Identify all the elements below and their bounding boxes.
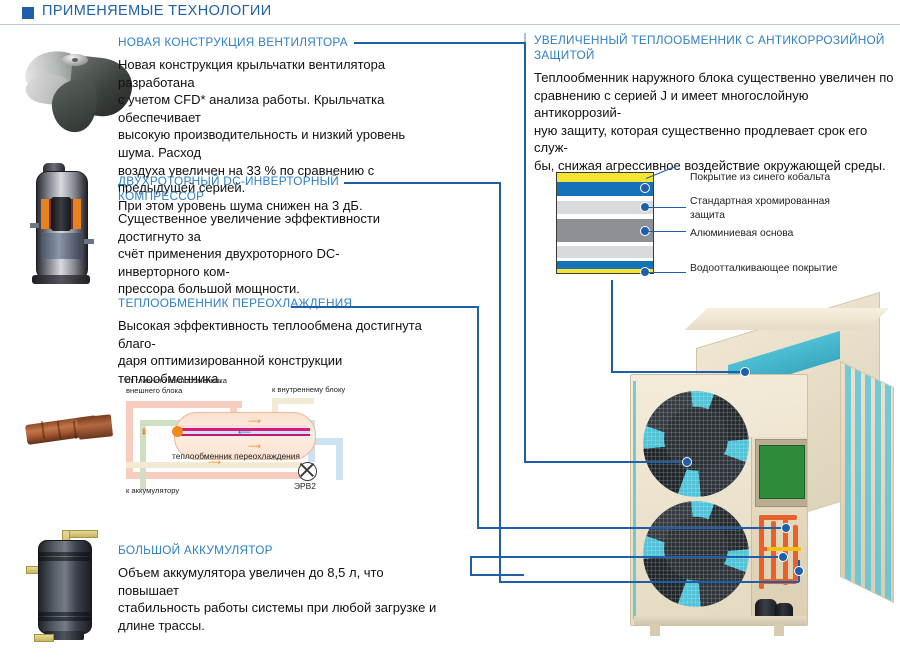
feature-accumulator: БОЛЬШОЙ АККУМУЛЯТОР Объем аккумулятора у…: [118, 543, 448, 634]
schematic-vessel-label: теплообменник переохлаждения: [172, 452, 300, 462]
subcooling-schematic: от главного теплообменника внешнего блок…: [112, 376, 364, 502]
coating-layer-blue-top: [557, 182, 653, 196]
compressor-icon: [30, 163, 92, 285]
accumulator-icon: [26, 530, 106, 642]
feature-accumulator-body: Объем аккумулятора увеличен до 8,5 л, чт…: [118, 564, 448, 634]
connector-subcooling-v: [477, 306, 479, 528]
unit-control-board: [759, 445, 805, 499]
technology-page: ПРИМЕНЯЕМЫЕ ТЕХНОЛОГИИ НО: [0, 0, 900, 669]
feature-subcooling: ТЕПЛООБМЕННИК ПЕРЕОХЛАЖДЕНИЯ Высокая эфф…: [118, 296, 438, 387]
unit-fan-lower: [643, 501, 749, 607]
connector-fan-h1: [354, 42, 526, 44]
connector-hx-h: [611, 371, 744, 373]
feature-subcooling-title: ТЕПЛООБМЕННИК ПЕРЕОХЛАЖДЕНИЯ: [118, 296, 438, 311]
connector-compressor-h1: [344, 182, 500, 184]
coating-layer-light-gray-1: [557, 201, 653, 214]
connector-fan-v: [524, 42, 526, 462]
schematic-valve-icon: [298, 462, 317, 481]
schematic-label-to-accumulator: к аккумулятору: [126, 486, 179, 496]
unit-point-fan: [682, 457, 692, 467]
outdoor-unit-image: [624, 316, 900, 646]
header-marker-icon: [22, 7, 34, 19]
connector-hx-v: [611, 280, 613, 372]
coating-callout-label-2: Алюминиевая основа: [690, 227, 793, 241]
coating-leader-1: [646, 207, 686, 208]
schematic-valve-label: ЭРВ2: [294, 482, 316, 492]
feature-compressor: ДВУХРОТОРНЫЙ DC-ИНВЕРТОРНЫЙ КОМПРЕССОР С…: [118, 174, 418, 298]
feature-heat-exchanger-body: Теплообменник наружного блока существенн…: [534, 69, 894, 175]
unit-point-subcooling: [781, 523, 791, 533]
feature-accumulator-title: БОЛЬШОЙ АККУМУЛЯТОР: [118, 543, 448, 558]
feature-heat-exchanger-title: УВЕЛИЧЕННЫЙ ТЕПЛООБМЕННИК С АНТИКОРРОЗИЙ…: [534, 33, 894, 63]
header-divider: [0, 24, 900, 25]
feature-compressor-body: Существенное увеличение эффективности до…: [118, 210, 418, 298]
coating-layer-aluminium-core: [557, 219, 653, 242]
unit-side-heat-exchanger: [840, 361, 894, 603]
coating-layer-light-gray-2: [557, 246, 653, 258]
fan-blade-icon: [18, 36, 118, 136]
schematic-label-from-main: от главного теплообменника внешнего блок…: [126, 376, 227, 395]
unit-fan-upper: [643, 391, 749, 497]
connector-subcooling-h2: [477, 527, 785, 529]
unit-point-compressor: [794, 566, 804, 576]
coating-callout-label-1: Стандартная хромированная защита: [690, 195, 830, 222]
connector-accumulator-h1: [470, 574, 524, 576]
schematic-junction-dot: [172, 426, 183, 437]
coating-leader-2: [646, 231, 686, 232]
connector-accumulator-h2: [470, 556, 782, 558]
page-header: ПРИМЕНЯЕМЫЕ ТЕХНОЛОГИИ: [0, 0, 900, 25]
feature-compressor-title: ДВУХРОТОРНЫЙ DC-ИНВЕРТОРНЫЙ КОМПРЕССОР: [118, 174, 418, 204]
connector-compressor-v: [499, 182, 501, 582]
coating-layer-yellow-top: [557, 173, 653, 182]
unit-point-heat-exchanger: [740, 367, 750, 377]
copper-pipe-icon: [26, 412, 118, 448]
unit-point-accumulator: [778, 552, 788, 562]
coating-layer-blue-bottom: [557, 261, 653, 269]
connector-compressor-h2: [499, 581, 799, 583]
feature-heat-exchanger: УВЕЛИЧЕННЫЙ ТЕПЛООБМЕННИК С АНТИКОРРОЗИЙ…: [534, 33, 894, 175]
page-title: ПРИМЕНЯЕМЫЕ ТЕХНОЛОГИИ: [42, 3, 272, 19]
schematic-label-to-indoor: к внутреннему блоку: [272, 385, 345, 395]
coating-callout-label-3: Водоотталкивающее покрытие: [690, 262, 838, 276]
connector-fan-h2: [524, 461, 686, 463]
coating-leader-3: [646, 272, 686, 273]
unit-front-panel: [630, 374, 808, 626]
connector-accumulator-v: [470, 556, 472, 575]
coating-callout-label-0: Покрытие из синего кобальта: [690, 171, 830, 185]
coating-layer-yellow-bottom: [557, 269, 653, 273]
connector-subcooling-h1: [291, 306, 478, 308]
